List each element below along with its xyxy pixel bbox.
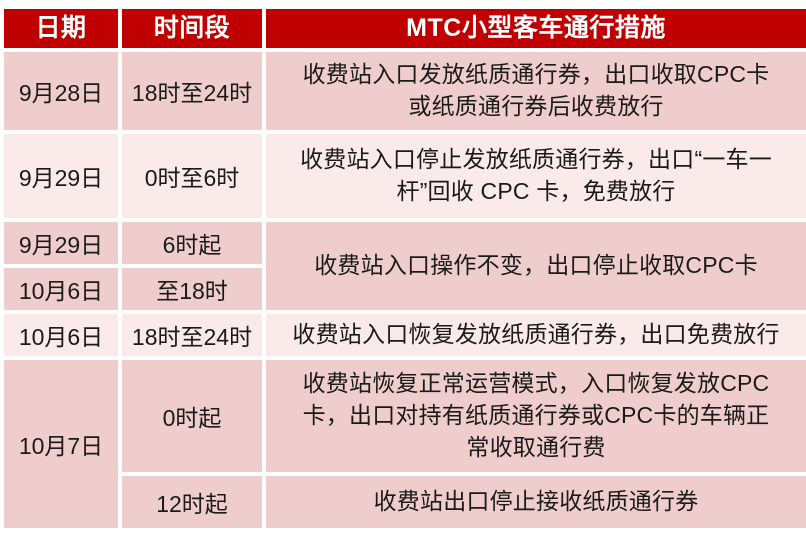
cell-date: 10月6日 bbox=[4, 314, 118, 356]
cell-date: 9月29日 bbox=[4, 222, 118, 264]
toll-measures-table: 日期 时间段 MTC小型客车通行措施 9月28日 18时至24时 收费站入口发放… bbox=[0, 5, 806, 532]
measure-line: 收费站出口停止接收纸质通行券 bbox=[266, 486, 806, 518]
cell-measure: 收费站入口恢复发放纸质通行券，出口免费放行 bbox=[266, 314, 806, 356]
table-body: 9月28日 18时至24时 收费站入口发放纸质通行券，出口收取CPC卡 或纸质通… bbox=[4, 52, 806, 528]
table-row: 10月6日 18时至24时 收费站入口恢复发放纸质通行券，出口免费放行 bbox=[4, 314, 806, 356]
cell-time-period: 至18时 bbox=[122, 268, 262, 310]
cell-date: 10月7日 bbox=[4, 360, 118, 528]
table-row: 9月29日 6时起 收费站入口操作不变，出口停止收取CPC卡 bbox=[4, 222, 806, 264]
measure-line: 卡，出口对持有纸质通行券或CPC卡的车辆正 bbox=[266, 400, 806, 432]
cell-time-period: 18时至24时 bbox=[122, 314, 262, 356]
table-row: 12时起 收费站出口停止接收纸质通行券 bbox=[4, 476, 806, 528]
measure-line: 杆”回收 CPC 卡，免费放行 bbox=[266, 176, 806, 208]
cell-time-period: 6时起 bbox=[122, 222, 262, 264]
cell-time-period: 0时至6时 bbox=[122, 134, 262, 218]
cell-time-period: 0时起 bbox=[122, 360, 262, 472]
cell-measure: 收费站恢复正常运营模式，入口恢复发放CPC 卡，出口对持有纸质通行券或CPC卡的… bbox=[266, 360, 806, 472]
table-row: 10月7日 0时起 收费站恢复正常运营模式，入口恢复发放CPC 卡，出口对持有纸… bbox=[4, 360, 806, 472]
cell-measure: 收费站入口操作不变，出口停止收取CPC卡 bbox=[266, 222, 806, 310]
toll-measures-table-container: 日期 时间段 MTC小型客车通行措施 9月28日 18时至24时 收费站入口发放… bbox=[0, 5, 806, 532]
cell-measure: 收费站入口停止发放纸质通行券，出口“一车一 杆”回收 CPC 卡，免费放行 bbox=[266, 134, 806, 218]
table-row: 9月28日 18时至24时 收费站入口发放纸质通行券，出口收取CPC卡 或纸质通… bbox=[4, 52, 806, 130]
measure-line: 收费站入口发放纸质通行券，出口收取CPC卡 bbox=[266, 59, 806, 91]
measure-line: 常收取通行费 bbox=[266, 432, 806, 464]
cell-measure: 收费站出口停止接收纸质通行券 bbox=[266, 476, 806, 528]
table-header: 日期 时间段 MTC小型客车通行措施 bbox=[4, 9, 806, 48]
column-header-date: 日期 bbox=[4, 9, 118, 48]
measure-line: 收费站入口操作不变，出口停止收取CPC卡 bbox=[266, 250, 806, 282]
column-header-time-period: 时间段 bbox=[122, 9, 262, 48]
cell-time-period: 12时起 bbox=[122, 476, 262, 528]
measure-line: 或纸质通行券后收费放行 bbox=[266, 91, 806, 123]
measure-line: 收费站入口停止发放纸质通行券，出口“一车一 bbox=[266, 144, 806, 176]
table-header-row: 日期 时间段 MTC小型客车通行措施 bbox=[4, 9, 806, 48]
cell-date: 10月6日 bbox=[4, 268, 118, 310]
cell-measure: 收费站入口发放纸质通行券，出口收取CPC卡 或纸质通行券后收费放行 bbox=[266, 52, 806, 130]
measure-line: 收费站恢复正常运营模式，入口恢复发放CPC bbox=[266, 368, 806, 400]
measure-line: 收费站入口恢复发放纸质通行券，出口免费放行 bbox=[266, 319, 806, 351]
cell-date: 9月28日 bbox=[4, 52, 118, 130]
cell-date: 9月29日 bbox=[4, 134, 118, 218]
cell-time-period: 18时至24时 bbox=[122, 52, 262, 130]
table-row: 9月29日 0时至6时 收费站入口停止发放纸质通行券，出口“一车一 杆”回收 C… bbox=[4, 134, 806, 218]
column-header-measures: MTC小型客车通行措施 bbox=[266, 9, 806, 48]
